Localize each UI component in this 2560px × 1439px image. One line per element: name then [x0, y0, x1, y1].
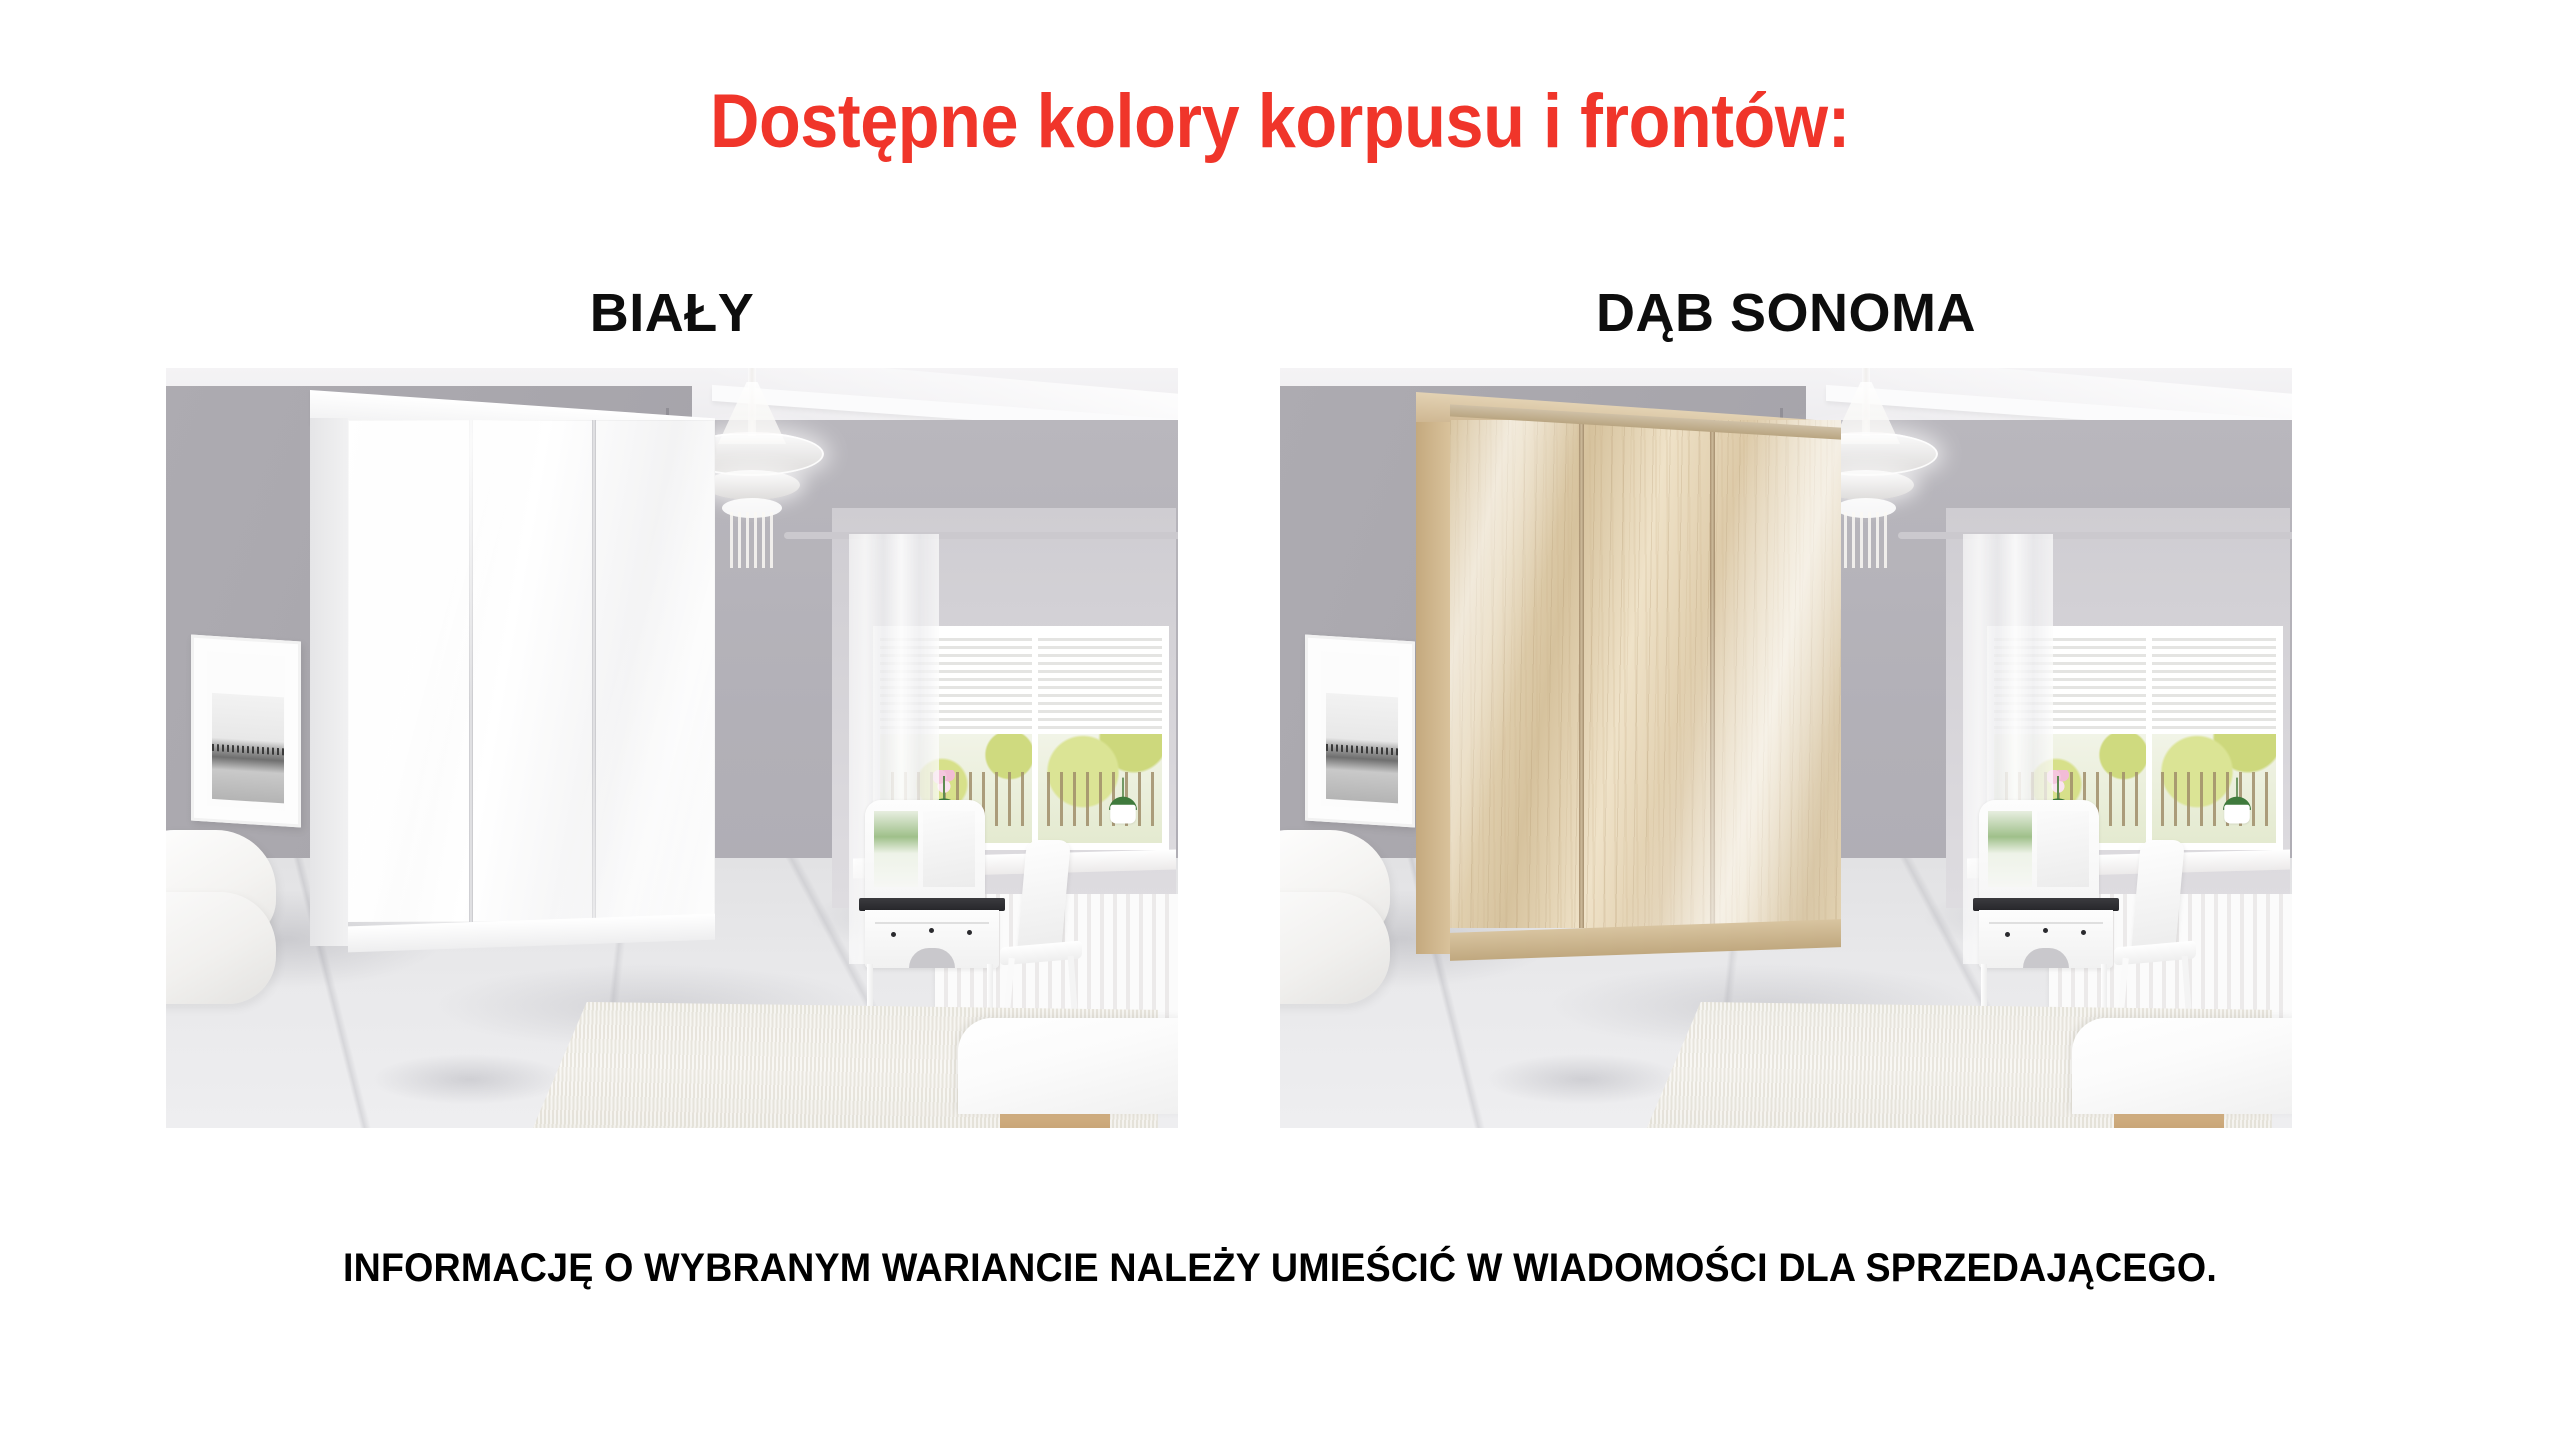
instruction-note: INFORMACJĘ O WYBRANYM WARIANCIE NALEŻY U…: [77, 1246, 2483, 1291]
vanity-leg: [1981, 964, 1987, 1010]
bed-corner: [2072, 1012, 2292, 1128]
vanity-leg: [867, 964, 873, 1010]
bedroom-scene-white: [166, 368, 1178, 1128]
orchid-plant-2: [2218, 773, 2257, 824]
wardrobe-side-panel: [1416, 422, 1450, 954]
vanity-table: [1973, 800, 2123, 1010]
variant-photo-white[interactable]: [166, 368, 1178, 1128]
pouf-segment: [166, 892, 276, 1004]
chair-backrest: [2131, 840, 2185, 952]
wardrobe-sonoma-oak[interactable]: [1416, 392, 1841, 954]
wardrobe-white[interactable]: [310, 390, 715, 946]
vanity-table: [859, 800, 1009, 1010]
bed-corner: [958, 1012, 1178, 1128]
wardrobe-sliding-fronts: [348, 420, 715, 922]
window-mullion: [2146, 633, 2152, 843]
wardrobe-gloss-reflection: [348, 420, 715, 922]
vanity-mirror: [865, 800, 985, 900]
picture-artwork: [1326, 693, 1398, 804]
white-chair: [996, 840, 1092, 1022]
white-pouf: [1280, 830, 1434, 1020]
variant-label-sonoma: DĄB SONOMA: [1280, 282, 2292, 344]
variant-label-white: BIAŁY: [166, 282, 1178, 344]
wardrobe-side-panel: [310, 418, 348, 946]
curtain-rod: [784, 532, 1178, 539]
pouf-segment: [1280, 892, 1390, 1004]
chandelier-drops: [1844, 512, 1888, 568]
bedroom-scene-sonoma: [1280, 368, 2292, 1128]
chandelier-drops: [730, 512, 774, 568]
color-options-infographic: Dostępne kolory korpusu i frontów: BIAŁY…: [0, 0, 2560, 1439]
orchid-pot: [1111, 805, 1137, 824]
page-title: Dostępne kolory korpusu i frontów:: [128, 78, 2432, 165]
wardrobe-gloss-reflection: [1450, 420, 1841, 928]
wardrobe-sliding-fronts: [1450, 420, 1841, 928]
vanity-drawers: [865, 910, 999, 968]
white-chair: [2110, 840, 2206, 1022]
bed-mattress: [2072, 1018, 2292, 1114]
chandelier-ring-mid: [704, 470, 800, 500]
framed-picture: [1305, 635, 1415, 828]
orchid-plant-2: [1104, 773, 1143, 824]
vanity-leg: [987, 964, 993, 1010]
variant-photo-sonoma[interactable]: [1280, 368, 2292, 1128]
white-pouf: [166, 830, 320, 1020]
orchid-pot: [2225, 805, 2251, 824]
vanity-drawers: [1979, 910, 2113, 968]
framed-picture: [191, 635, 301, 828]
curtain-rod: [1898, 532, 2292, 539]
vanity-leg: [2101, 964, 2107, 1010]
window-mullion: [1032, 633, 1038, 843]
vanity-mirror: [1979, 800, 2099, 900]
bed-mattress: [958, 1018, 1178, 1114]
chair-backrest: [1017, 840, 1071, 952]
picture-artwork: [212, 693, 284, 804]
